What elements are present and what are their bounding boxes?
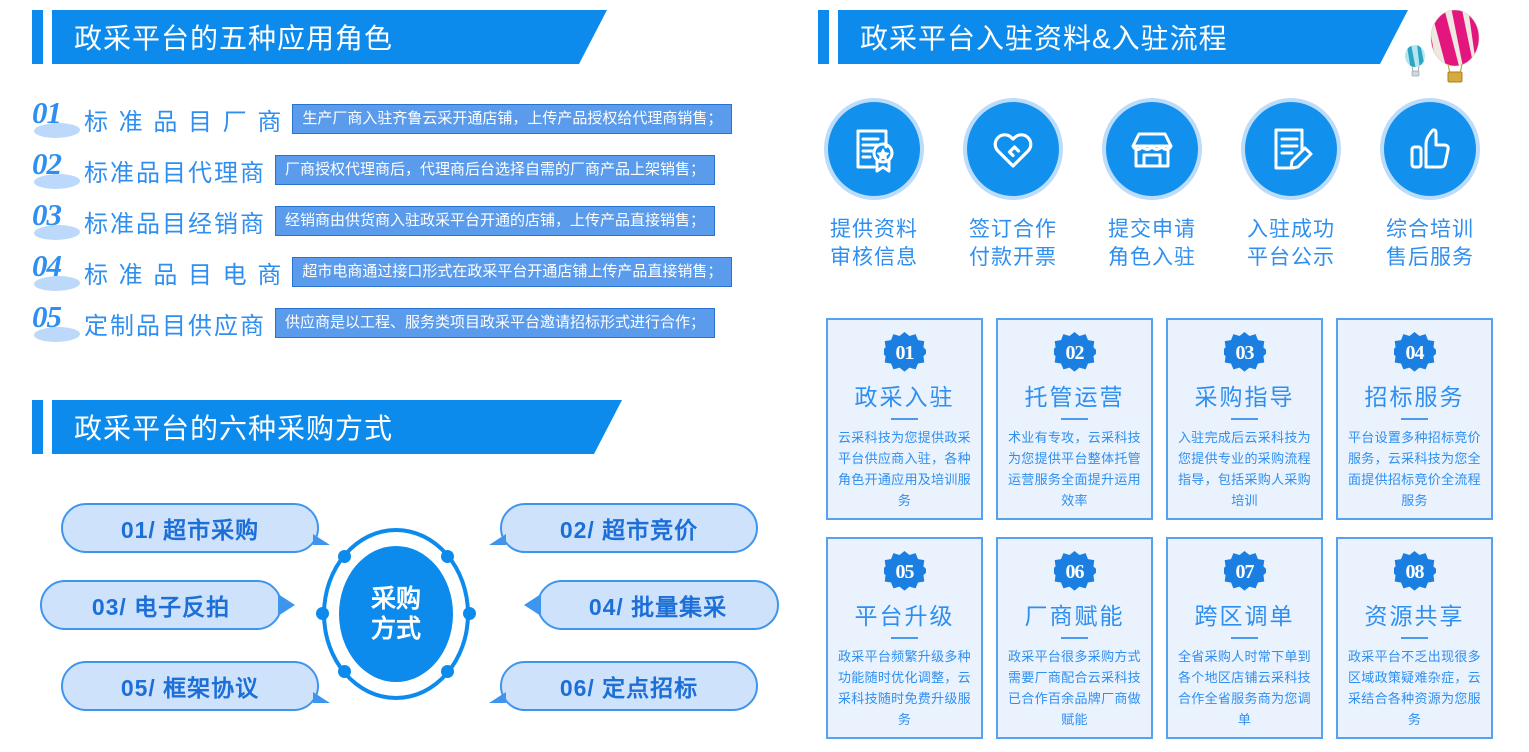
process-label-line2: 付款开票 [963, 244, 1063, 272]
role-name: 标 准 品 目 电 商 [84, 255, 283, 290]
banner-gap [43, 400, 52, 454]
role-row: 05 定制品目供应商 供应商是以工程、服务类项目政采平台邀请招标形式进行合作； [32, 301, 715, 345]
card-badge-number: 06 [1066, 561, 1084, 584]
role-number: 02 [32, 148, 84, 192]
card-body: 平台设置多种招标竞价服务，云采科技为您全面提供招标竞价全流程服务 [1338, 427, 1491, 511]
banner-slant [594, 400, 622, 454]
card-divider [1061, 418, 1088, 420]
card-badge-icon: 05 [884, 551, 926, 593]
banner-gap [829, 10, 838, 64]
roles-header-title: 政采平台的五种应用角色 [74, 17, 393, 57]
hub-label-line1: 采购 [371, 584, 421, 615]
role-number-text: 04 [32, 248, 61, 284]
role-name: 标 准 品 目 厂 商 [84, 102, 283, 137]
role-number: 03 [32, 199, 84, 243]
process-banner: 政采平台入驻资料&入驻流程 [818, 10, 1380, 64]
hub-dot [463, 607, 476, 620]
card-badge-icon: 06 [1054, 551, 1096, 593]
role-row: 03 标准品目经销商 经销商由供货商入驻政采平台开通的店铺，上传产品直接销售； [32, 199, 715, 243]
banner-accent-bar [32, 10, 43, 64]
method-pill-label: 02/ 超市竞价 [560, 511, 698, 545]
hub-dot [441, 665, 454, 678]
card-badge-icon: 02 [1054, 332, 1096, 374]
role-name: 定制品目供应商 [84, 306, 266, 341]
card-title: 跨区调单 [1195, 597, 1295, 631]
role-number-text: 02 [32, 146, 61, 182]
role-description: 生产厂商入驻齐鲁云采开通店铺，上传产品授权给代理商销售； [292, 104, 732, 133]
banner-slant [579, 10, 607, 64]
methods-banner: 政采平台的六种采购方式 [32, 400, 594, 454]
role-number-text: 01 [32, 95, 61, 131]
method-pill-04[interactable]: 04/ 批量集采 [537, 580, 779, 630]
card-body: 政采平台不乏出现很多区域政策疑难杂症，云采结合各种资源为您服务 [1338, 646, 1491, 730]
card-title: 托管运营 [1025, 378, 1125, 412]
service-card-04[interactable]: 04 招标服务 平台设置多种招标竞价服务，云采科技为您全面提供招标竞价全流程服务 [1336, 318, 1493, 520]
card-title: 政采入驻 [855, 378, 955, 412]
card-divider [891, 418, 918, 420]
infographic-page: 政采平台的五种应用角色 01 标 准 品 目 厂 商 生产厂商入驻齐鲁云采开通店… [0, 0, 1529, 752]
role-name: 标准品目代理商 [84, 153, 266, 188]
service-card-07[interactable]: 07 跨区调单 全省采购人时常下单到各个地区店铺云采科技合作全省服务商为您调单 [1166, 537, 1323, 739]
service-card-05[interactable]: 05 平台升级 政采平台频繁升级多种功能随时优化调整，云采科技随时免费升级服务 [826, 537, 983, 739]
pill-tail [278, 594, 295, 616]
service-card-01[interactable]: 01 政采入驻 云采科技为您提供政采平台供应商入驻，各种角色开通应用及培训服务 [826, 318, 983, 520]
process-step-label: 入驻成功 平台公示 [1241, 216, 1341, 273]
method-pill-label: 05/ 框架协议 [121, 669, 259, 703]
methods-banner-bar: 政采平台的六种采购方式 [52, 400, 594, 454]
card-badge-icon: 07 [1224, 551, 1266, 593]
method-pill-label: 03/ 电子反拍 [92, 588, 230, 622]
service-card-08[interactable]: 08 资源共享 政采平台不乏出现很多区域政策疑难杂症，云采结合各种资源为您服务 [1336, 537, 1493, 739]
process-step-label: 提供资料 审核信息 [824, 216, 924, 273]
card-body: 入驻完成后云采科技为您提供专业的采购流程指导，包括采购人采购培训 [1168, 427, 1321, 511]
service-card-02[interactable]: 02 托管运营 术业有专攻，云采科技为您提供平台整体托管运营服务全面提升运用效率 [996, 318, 1153, 520]
role-name: 标准品目经销商 [84, 204, 266, 239]
card-title: 资源共享 [1365, 597, 1465, 631]
card-badge-icon: 08 [1394, 551, 1436, 593]
handshake-heart-icon [963, 98, 1063, 200]
purchase-method-hub: 采购 方式 [322, 528, 470, 700]
method-pill-01[interactable]: 01/ 超市采购 [61, 503, 319, 553]
process-label-line1: 提供资料 [824, 216, 924, 244]
hub-dot [316, 607, 329, 620]
process-step-4[interactable]: 入驻成功 平台公示 [1241, 98, 1341, 273]
card-body: 全省采购人时常下单到各个地区店铺云采科技合作全省服务商为您调单 [1168, 646, 1321, 730]
role-number: 05 [32, 301, 84, 345]
methods-header-title: 政采平台的六种采购方式 [74, 407, 393, 447]
certificate-icon [824, 98, 924, 200]
card-divider [1401, 418, 1428, 420]
card-divider [891, 637, 918, 639]
card-divider [1401, 637, 1428, 639]
process-step-label: 签订合作 付款开票 [963, 216, 1063, 273]
process-step-2[interactable]: 签订合作 付款开票 [963, 98, 1063, 273]
method-pill-label: 06/ 定点招标 [560, 669, 698, 703]
service-card-06[interactable]: 06 厂商赋能 政采平台很多采购方式需要厂商配合云采科技已合作百余品牌厂商做赋能 [996, 537, 1153, 739]
process-label-line2: 售后服务 [1380, 244, 1480, 272]
card-divider [1231, 418, 1258, 420]
method-pill-label: 04/ 批量集采 [589, 588, 727, 622]
process-label-line1: 综合培训 [1380, 216, 1480, 244]
card-body: 政采平台很多采购方式需要厂商配合云采科技已合作百余品牌厂商做赋能 [998, 646, 1151, 730]
process-label-line2: 审核信息 [824, 244, 924, 272]
thumbs-up-icon [1380, 98, 1480, 200]
banner-accent-bar [32, 400, 43, 454]
pill-tail [489, 534, 506, 545]
process-step-label: 提交申请 角色入驻 [1102, 216, 1202, 273]
method-pill-05[interactable]: 05/ 框架协议 [61, 661, 319, 711]
role-row: 02 标准品目代理商 厂商授权代理商后，代理商后台选择自需的厂商产品上架销售； [32, 148, 715, 192]
pill-tail [524, 594, 541, 616]
card-badge-number: 04 [1406, 342, 1424, 365]
hub-dot [441, 550, 454, 563]
hot-air-balloon-icon [1398, 8, 1494, 91]
card-badge-icon: 01 [884, 332, 926, 374]
process-step-1[interactable]: 提供资料 审核信息 [824, 98, 924, 273]
card-title: 采购指导 [1195, 378, 1295, 412]
process-label-line2: 角色入驻 [1102, 244, 1202, 272]
process-label-line1: 入驻成功 [1241, 216, 1341, 244]
banner-gap [43, 10, 52, 64]
process-banner-bar: 政采平台入驻资料&入驻流程 [838, 10, 1380, 64]
hub-core: 采购 方式 [334, 541, 458, 687]
service-card-03[interactable]: 03 采购指导 入驻完成后云采科技为您提供专业的采购流程指导，包括采购人采购培训 [1166, 318, 1323, 520]
card-badge-icon: 04 [1394, 332, 1436, 374]
hub-label-line2: 方式 [371, 614, 421, 645]
method-pill-06[interactable]: 06/ 定点招标 [500, 661, 758, 711]
card-body: 云采科技为您提供政采平台供应商入驻，各种角色开通应用及培训服务 [828, 427, 981, 511]
storefront-icon [1102, 98, 1202, 200]
method-pill-label: 01/ 超市采购 [121, 511, 259, 545]
card-divider [1231, 637, 1258, 639]
card-divider [1061, 637, 1088, 639]
card-badge-number: 02 [1066, 342, 1084, 365]
role-description: 超市电商通过接口形式在政采平台开通店铺上传产品直接销售； [292, 257, 732, 286]
roles-banner-bar: 政采平台的五种应用角色 [52, 10, 579, 64]
role-row: 01 标 准 品 目 厂 商 生产厂商入驻齐鲁云采开通店铺，上传产品授权给代理商… [32, 97, 732, 141]
process-step-label: 综合培训 售后服务 [1380, 216, 1480, 273]
role-number: 01 [32, 97, 84, 141]
card-badge-number: 01 [896, 342, 914, 365]
card-badge-number: 07 [1236, 561, 1254, 584]
card-title: 厂商赋能 [1025, 597, 1125, 631]
card-badge-icon: 03 [1224, 332, 1266, 374]
roles-banner: 政采平台的五种应用角色 [32, 10, 579, 64]
method-pill-03[interactable]: 03/ 电子反拍 [40, 580, 282, 630]
role-row: 04 标 准 品 目 电 商 超市电商通过接口形式在政采平台开通店铺上传产品直接… [32, 250, 732, 294]
banner-accent-bar [818, 10, 829, 64]
process-step-5[interactable]: 综合培训 售后服务 [1380, 98, 1480, 273]
pill-tail [489, 692, 506, 703]
card-body: 术业有专攻，云采科技为您提供平台整体托管运营服务全面提升运用效率 [998, 427, 1151, 511]
hub-dot [338, 665, 351, 678]
card-title: 平台升级 [855, 597, 955, 631]
process-label-line2: 平台公示 [1241, 244, 1341, 272]
role-number-text: 03 [32, 197, 61, 233]
method-pill-02[interactable]: 02/ 超市竞价 [500, 503, 758, 553]
card-body: 政采平台频繁升级多种功能随时优化调整，云采科技随时免费升级服务 [828, 646, 981, 730]
document-edit-icon [1241, 98, 1341, 200]
hub-dot [338, 550, 351, 563]
role-number-text: 05 [32, 299, 61, 335]
process-step-3[interactable]: 提交申请 角色入驻 [1102, 98, 1202, 273]
process-header-title: 政采平台入驻资料&入驻流程 [860, 17, 1228, 57]
role-description: 厂商授权代理商后，代理商后台选择自需的厂商产品上架销售； [275, 155, 715, 184]
card-title: 招标服务 [1365, 378, 1465, 412]
card-badge-number: 03 [1236, 342, 1254, 365]
card-badge-number: 08 [1406, 561, 1424, 584]
role-description: 供应商是以工程、服务类项目政采平台邀请招标形式进行合作； [275, 308, 715, 337]
process-label-line1: 签订合作 [963, 216, 1063, 244]
role-number: 04 [32, 250, 84, 294]
process-label-line1: 提交申请 [1102, 216, 1202, 244]
card-badge-number: 05 [896, 561, 914, 584]
role-description: 经销商由供货商入驻政采平台开通的店铺，上传产品直接销售； [275, 206, 715, 235]
